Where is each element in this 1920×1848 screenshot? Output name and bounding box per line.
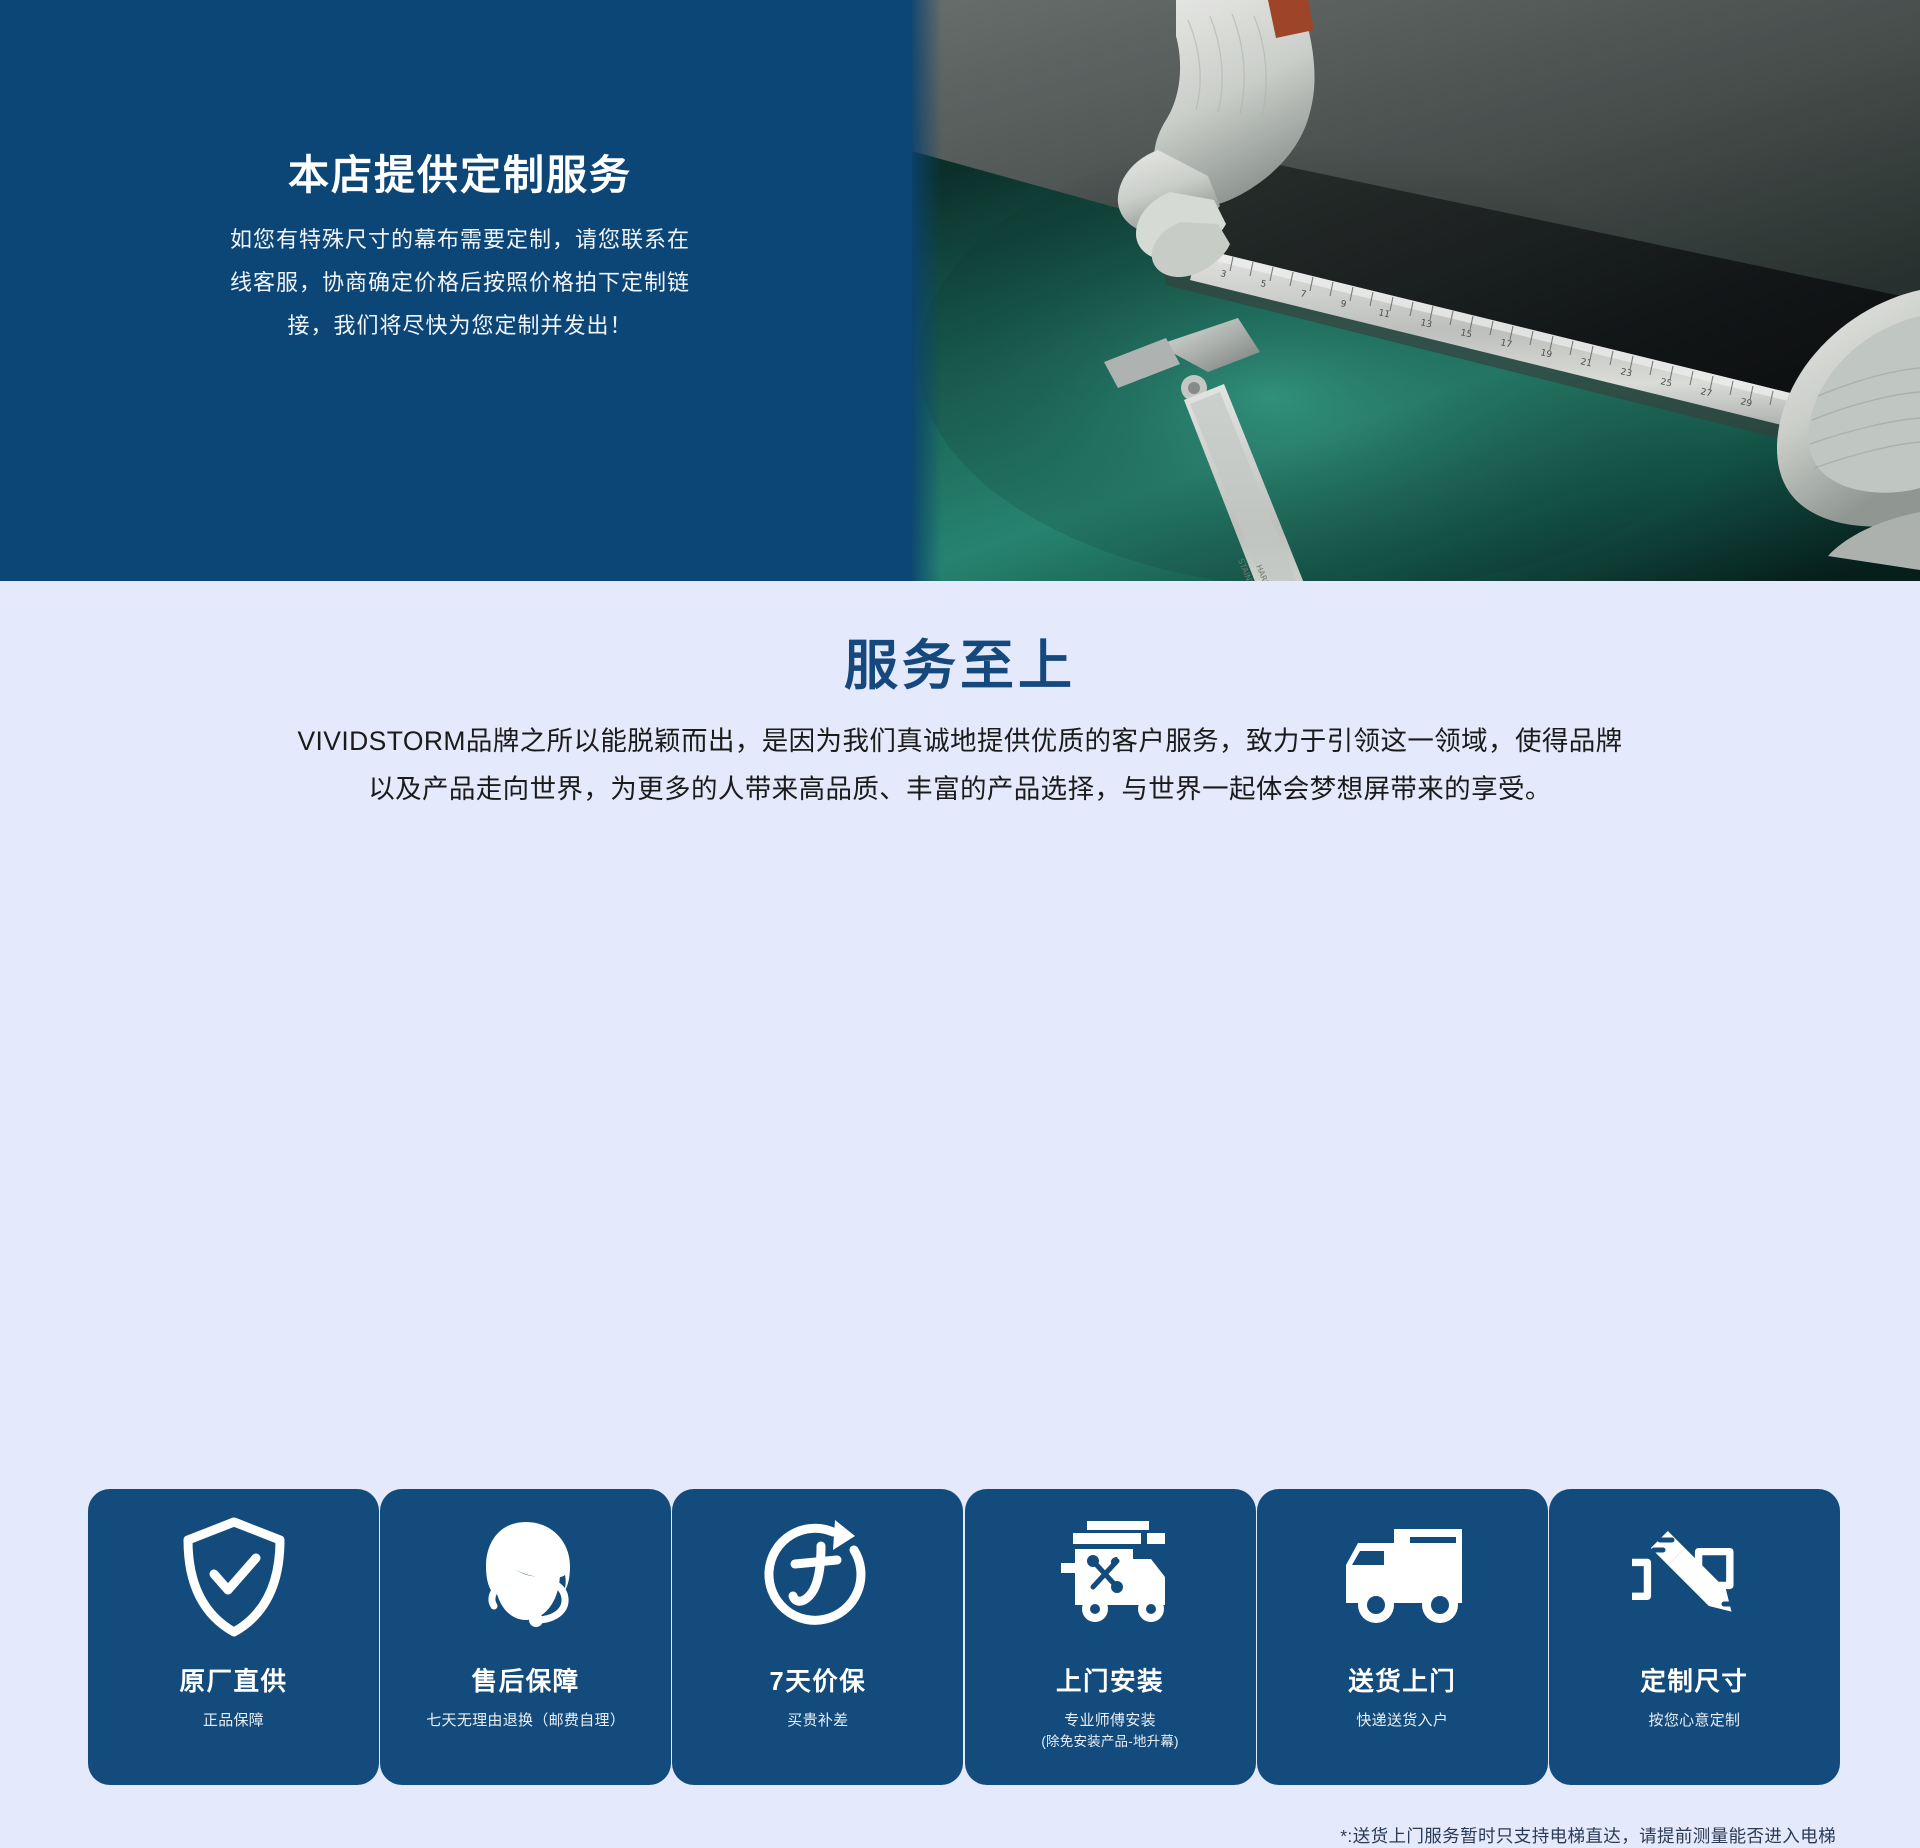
feature-card-subtitle: 快递送货入户: [1356, 1711, 1448, 1731]
hero-title: 本店提供定制服务: [165, 150, 755, 201]
feature-card-subtitle: 买贵补差: [787, 1711, 848, 1731]
feature-card-row: 原厂直供 正品保障 售后保障 七天无理由退换（邮费自理）: [88, 1489, 1840, 1785]
feature-card-title: 原厂直供: [179, 1661, 287, 1698]
feature-card-price-protection[interactable]: 7天价保 买贵补差: [672, 1489, 963, 1785]
section-paragraph: VIVIDSTORM品牌之所以能脱颖而出，是因为我们真诚地提供优质的客户服务，致…: [180, 718, 1740, 812]
feature-card-subtitle-note: (除免安装产品-地升幕): [1041, 1733, 1178, 1751]
hero-paragraph: 如您有特殊尺寸的幕布需要定制，请您联系在 线客服，协商确定价格后按照价格拍下定制…: [165, 219, 755, 348]
feature-card-title: 上门安装: [1056, 1661, 1164, 1698]
delivery-footnote: *:送货上门服务暂时只支持电梯直达，请提前测量能否进入电梯: [1340, 1823, 1836, 1848]
section-paragraph-line-2: 以及产品走向世界，为更多的人带来高品质、丰富的产品选择，与世界一起体会梦想屏带来…: [180, 766, 1740, 813]
pencil-ruler-custom-icon: [1632, 1503, 1756, 1651]
hero-copy: 本店提供定制服务 如您有特殊尺寸的幕布需要定制，请您联系在 线客服，协商确定价格…: [165, 150, 755, 348]
feature-card-subtitle: 按您心意定制: [1649, 1711, 1741, 1731]
shield-check-icon: [180, 1503, 288, 1651]
feature-card-custom-size[interactable]: 定制尺寸 按您心意定制: [1549, 1489, 1840, 1785]
install-service-truck-icon: [1047, 1503, 1173, 1651]
feature-card-home-delivery[interactable]: 送货上门 快递送货入户: [1257, 1489, 1548, 1785]
hero-banner: 3 5 7 9 11 13 15 17 19 21 23 25 27 29: [0, 0, 1920, 581]
feature-card-subtitle: 七天无理由退换（邮费自理）: [426, 1711, 625, 1731]
section-title: 服务至上: [0, 581, 1920, 696]
feature-card-after-sales[interactable]: 售后保障 七天无理由退换（邮费自理）: [380, 1489, 671, 1785]
feature-card-title: 定制尺寸: [1640, 1661, 1748, 1698]
service-section: 服务至上 VIVIDSTORM品牌之所以能脱颖而出，是因为我们真诚地提供优质的客…: [0, 581, 1920, 1307]
feature-card-title: 售后保障: [472, 1661, 580, 1698]
hero-photo: 3 5 7 9 11 13 15 17 19 21 23 25 27 29: [908, 0, 1920, 581]
feature-card-subtitle: 正品保障: [203, 1711, 264, 1731]
seven-day-refresh-icon: [759, 1503, 877, 1651]
section-paragraph-line-1: VIVIDSTORM品牌之所以能脱颖而出，是因为我们真诚地提供优质的客户服务，致…: [180, 718, 1740, 765]
hero-paragraph-line-3: 接，我们将尽快为您定制并发出！: [165, 305, 755, 348]
hero-paragraph-line-2: 线客服，协商确定价格后按照价格拍下定制链: [165, 262, 755, 305]
headset-support-agent-icon: [470, 1503, 582, 1651]
measuring-photo-illustration: 3 5 7 9 11 13 15 17 19 21 23 25 27 29: [908, 0, 1920, 581]
feature-card-subtitle: 专业师傅安装: [1064, 1711, 1156, 1731]
delivery-truck-icon: [1336, 1503, 1468, 1651]
hero-left-panel: 本店提供定制服务 如您有特殊尺寸的幕布需要定制，请您联系在 线客服，协商确定价格…: [0, 0, 912, 581]
feature-card-door-installation[interactable]: 上门安装 专业师傅安装 (除免安装产品-地升幕): [965, 1489, 1256, 1785]
feature-card-title: 送货上门: [1348, 1661, 1456, 1698]
feature-card-title: 7天价保: [770, 1661, 867, 1698]
hero-paragraph-line-1: 如您有特殊尺寸的幕布需要定制，请您联系在: [165, 219, 755, 262]
feature-card-original-supply[interactable]: 原厂直供 正品保障: [88, 1489, 379, 1785]
